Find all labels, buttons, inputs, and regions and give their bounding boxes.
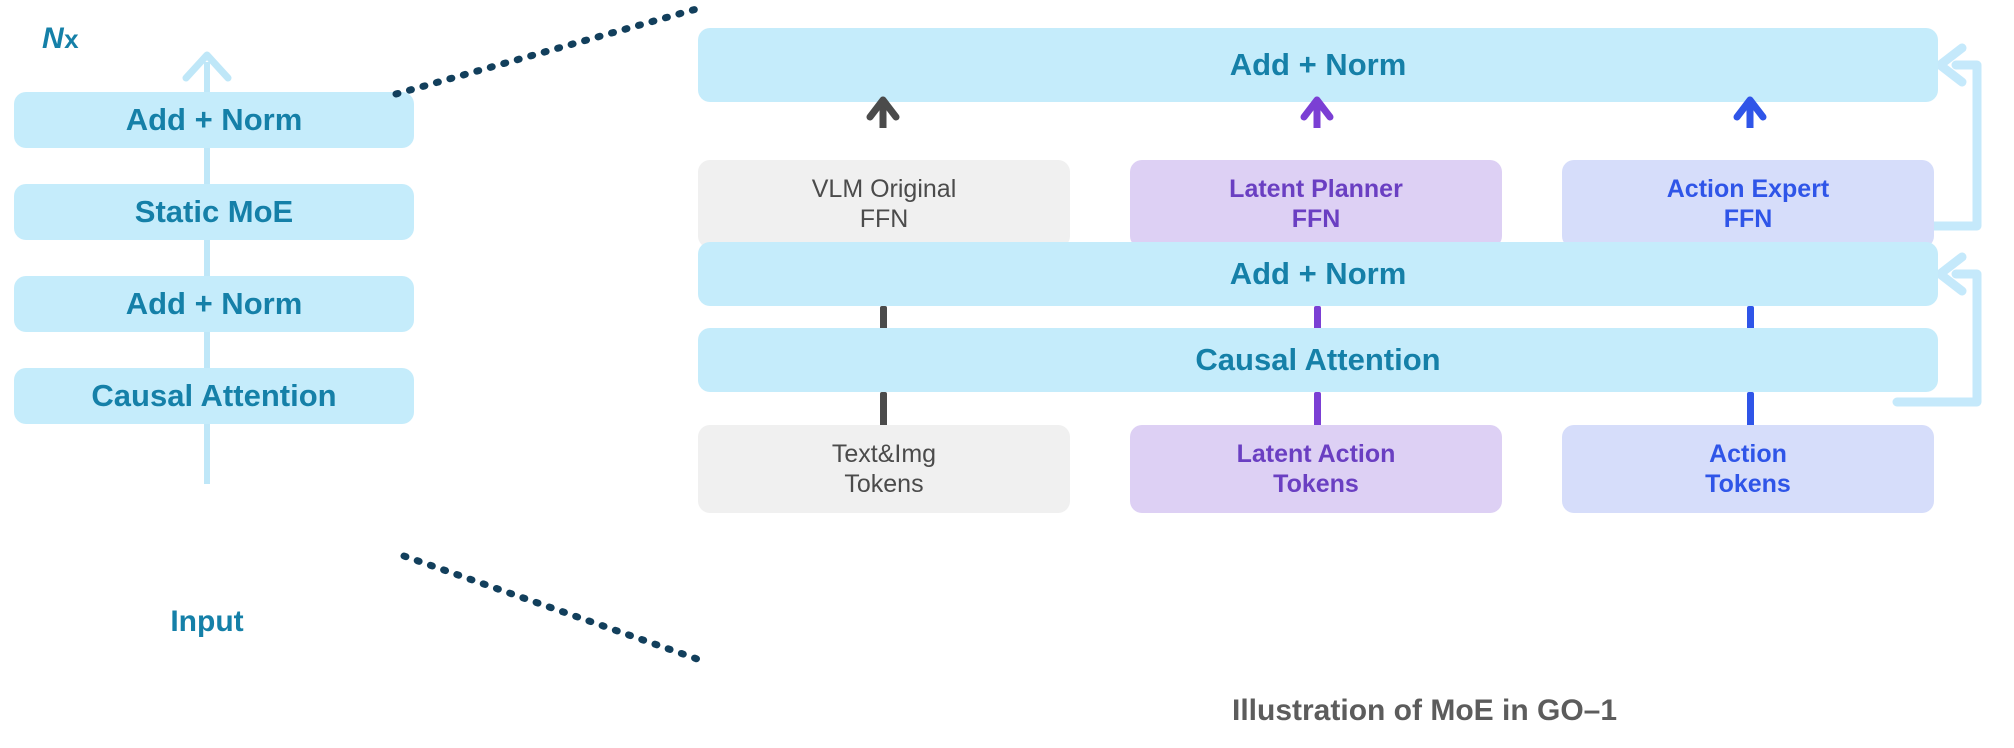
connector-attention-to-midaddnorm-action bbox=[1747, 306, 1754, 330]
connector-tokens-to-attention-textimg bbox=[880, 392, 887, 428]
mid-add-norm-bar[interactable]: Add + Norm bbox=[698, 242, 1938, 306]
repeat-count-x: x bbox=[64, 24, 79, 54]
residual-arrow-head-mid-icon bbox=[1940, 257, 1962, 291]
token-box-action[interactable]: Action Tokens bbox=[1562, 425, 1934, 513]
connector-attention-to-midaddnorm-vlm bbox=[880, 306, 887, 330]
left-panel: Nx Add + Norm Static MoE Add + Norm Caus… bbox=[0, 0, 690, 748]
up-arrow-icon-latent bbox=[1304, 100, 1330, 117]
left-block-label: Add + Norm bbox=[126, 101, 303, 138]
expert-line2: FFN bbox=[1667, 204, 1830, 234]
repeat-count-label: Nx bbox=[42, 22, 79, 56]
top-add-norm-bar[interactable]: Add + Norm bbox=[698, 28, 1938, 102]
left-block-static-moe[interactable]: Static MoE bbox=[14, 184, 414, 240]
left-block-add-norm-2[interactable]: Add + Norm bbox=[14, 92, 414, 148]
input-label: Input bbox=[0, 605, 414, 639]
spine-bottom bbox=[204, 422, 210, 484]
expert-line2: FFN bbox=[1229, 204, 1403, 234]
connector-tokens-to-attention-latent bbox=[1314, 392, 1321, 428]
top-add-norm-label: Add + Norm bbox=[1230, 46, 1407, 83]
figure-canvas: Nx Add + Norm Static MoE Add + Norm Caus… bbox=[0, 0, 2014, 748]
expert-line1: Latent Planner bbox=[1229, 174, 1403, 204]
figure-caption: Illustration of MoE in GO–1 bbox=[1232, 694, 1932, 728]
token-line2: Tokens bbox=[1705, 469, 1791, 499]
left-block-label: Causal Attention bbox=[91, 377, 336, 414]
connector-attention-to-midaddnorm-latent bbox=[1314, 306, 1321, 330]
mid-add-norm-label: Add + Norm bbox=[1230, 255, 1407, 292]
connector-tokens-to-attention-action bbox=[1747, 392, 1754, 428]
token-box-text-img[interactable]: Text&Img Tokens bbox=[698, 425, 1070, 513]
token-line1: Action bbox=[1705, 439, 1791, 469]
token-line1: Latent Action bbox=[1237, 439, 1396, 469]
expert-line2: FFN bbox=[812, 204, 957, 234]
residual-arrow-head-top-icon bbox=[1940, 48, 1962, 82]
up-arrow-icon-action bbox=[1737, 100, 1763, 117]
expert-line1: Action Expert bbox=[1667, 174, 1830, 204]
expert-box-action-expert-ffn[interactable]: Action Expert FFN bbox=[1562, 160, 1934, 248]
left-block-label: Add + Norm bbox=[126, 285, 303, 322]
expert-line1: VLM Original bbox=[812, 174, 957, 204]
repeat-count-n: N bbox=[42, 22, 64, 55]
causal-attention-label: Causal Attention bbox=[1195, 341, 1440, 378]
left-block-add-norm-1[interactable]: Add + Norm bbox=[14, 276, 414, 332]
token-line1: Text&Img bbox=[832, 439, 936, 469]
causal-attention-bar[interactable]: Causal Attention bbox=[698, 328, 1938, 392]
up-arrow-icon-vlm bbox=[870, 100, 896, 117]
left-block-causal-attention[interactable]: Causal Attention bbox=[14, 368, 414, 424]
right-panel: Add + Norm VLM Original FFN Latent Plann… bbox=[690, 0, 2014, 748]
left-block-label: Static MoE bbox=[135, 193, 293, 230]
token-line2: Tokens bbox=[1237, 469, 1396, 499]
token-line2: Tokens bbox=[832, 469, 936, 499]
token-box-latent-action[interactable]: Latent Action Tokens bbox=[1130, 425, 1502, 513]
expert-box-latent-planner-ffn[interactable]: Latent Planner FFN bbox=[1130, 160, 1502, 248]
expert-box-vlm-original-ffn[interactable]: VLM Original FFN bbox=[698, 160, 1070, 248]
